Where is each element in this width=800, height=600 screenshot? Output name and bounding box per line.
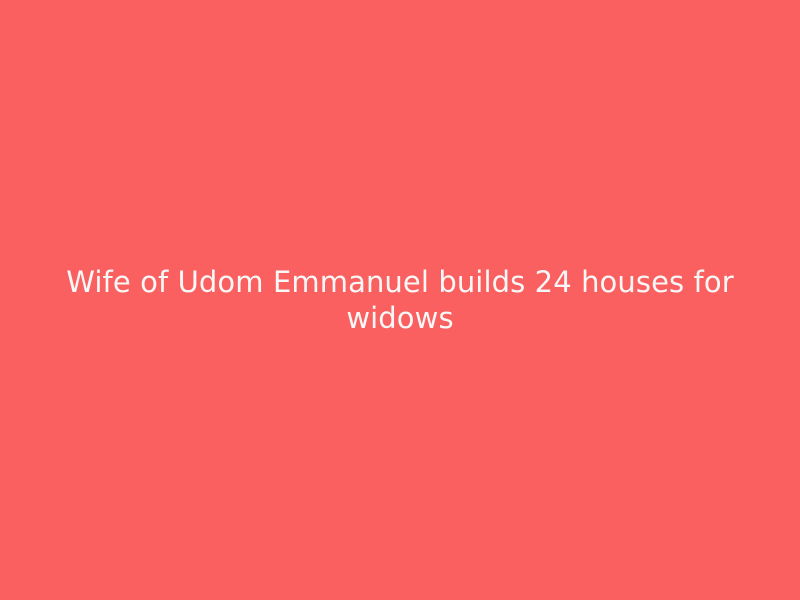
- headline-block: Wife of Udom Emmanuel builds 24 houses f…: [50, 264, 750, 336]
- placeholder-headline: Wife of Udom Emmanuel builds 24 houses f…: [50, 264, 750, 336]
- image-placeholder-card: Wife of Udom Emmanuel builds 24 houses f…: [0, 0, 800, 600]
